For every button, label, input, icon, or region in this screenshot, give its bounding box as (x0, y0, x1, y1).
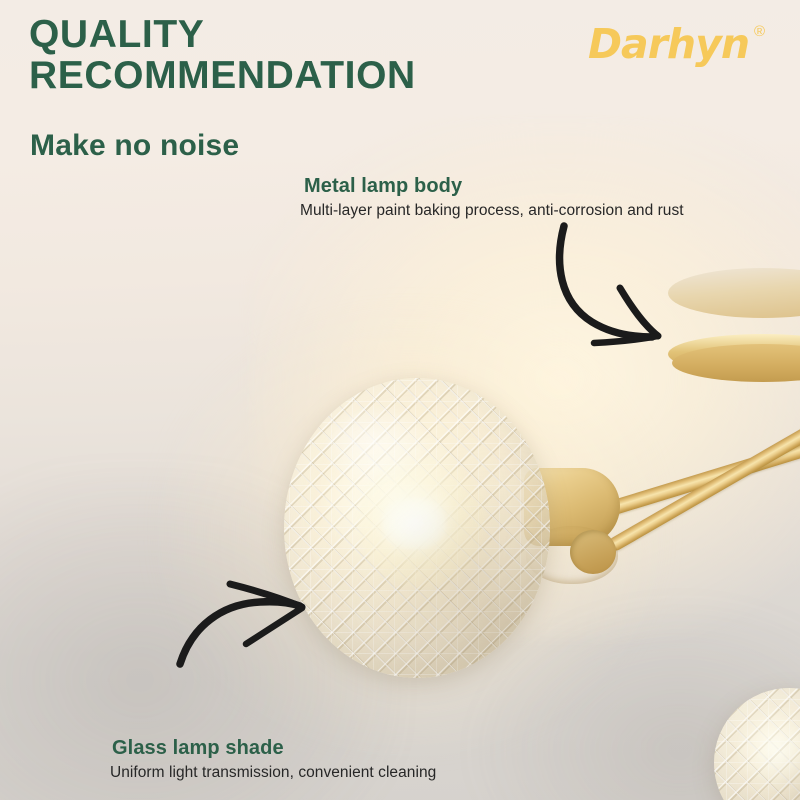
page-title: QUALITY RECOMMENDATION (29, 14, 416, 96)
page-subtitle: Make no noise (30, 129, 239, 163)
registered-trademark-icon: ® (754, 24, 765, 40)
product-marketing-image: QUALITY RECOMMENDATION Make no noise Dar… (0, 0, 800, 800)
callout-glass-lamp-shade: Glass lamp shade Uniform light transmiss… (112, 736, 436, 783)
callout-arrow-glass-lamp-shade (178, 562, 348, 732)
sphere-gloss-highlight (327, 408, 433, 486)
callout-metal-lamp-body: Metal lamp body Multi-layer paint baking… (304, 174, 684, 221)
brand-logo-wordmark: Darhyn (588, 22, 749, 66)
callout-title: Glass lamp shade (112, 736, 436, 760)
brand-logo: Darhyn ® (588, 22, 765, 66)
callout-arrow-metal-lamp-body (548, 216, 708, 376)
socket-cup-joint (570, 530, 616, 574)
callout-title: Metal lamp body (304, 174, 684, 198)
callout-description: Uniform light transmission, convenient c… (110, 763, 436, 783)
glass-shade-secondary (714, 688, 800, 800)
glass-sphere (714, 688, 800, 800)
